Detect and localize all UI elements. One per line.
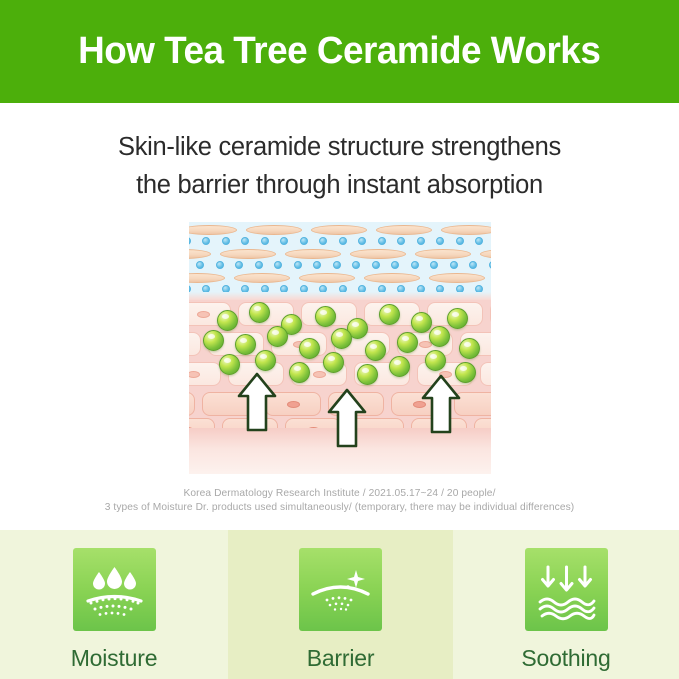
- hydration-dot: [469, 261, 477, 269]
- ceramide-sphere: [411, 312, 432, 333]
- barrier-arc-sparkle-icon: [299, 548, 382, 631]
- hydration-dot: [489, 261, 491, 269]
- ceramide-sphere: [357, 364, 378, 385]
- ceramide-sphere: [459, 338, 480, 359]
- ceramide-sphere: [315, 306, 336, 327]
- corneocyte-cell: [350, 249, 406, 259]
- ceramide-sphere: [323, 352, 344, 373]
- hydration-dot: [417, 237, 425, 245]
- hydration-dot: [216, 261, 224, 269]
- ceramide-sphere: [249, 302, 270, 323]
- subtitle-line-2: the barrier through instant absorption: [0, 166, 679, 204]
- page-header: How Tea Tree Ceramide Works: [0, 0, 679, 103]
- corneocyte-cell: [189, 273, 225, 283]
- hydration-dot: [202, 237, 210, 245]
- absorption-arrow: [327, 388, 367, 450]
- hydration-dot: [274, 261, 282, 269]
- caption-line-1: Korea Dermatology Research Institute / 2…: [0, 487, 679, 501]
- hydration-dot: [313, 261, 321, 269]
- hydration-dot: [222, 237, 230, 245]
- cell-nucleus: [189, 371, 200, 378]
- corneocyte-cell: [415, 249, 471, 259]
- corneocyte-cell: [376, 225, 432, 235]
- hydration-dot: [300, 237, 308, 245]
- benefit-panel-barrier[interactable]: Barrier: [228, 530, 453, 679]
- hydration-dot: [241, 237, 249, 245]
- hydration-dot: [235, 261, 243, 269]
- ceramide-sphere: [447, 308, 468, 329]
- corneocyte-cell: [299, 273, 355, 283]
- subtitle-line-1: Skin-like ceramide structure strengthens: [0, 128, 679, 166]
- ceramide-sphere: [267, 326, 288, 347]
- page-title: How Tea Tree Ceramide Works: [78, 30, 600, 73]
- hydration-dot: [456, 237, 464, 245]
- ceramide-sphere: [217, 310, 238, 331]
- epidermal-cell: [189, 332, 201, 356]
- hydration-dot: [319, 237, 327, 245]
- hydration-dot: [333, 261, 341, 269]
- hydration-dot: [339, 237, 347, 245]
- absorption-arrow: [237, 372, 277, 434]
- ceramide-sphere: [255, 350, 276, 371]
- hydration-dot: [255, 261, 263, 269]
- benefit-panel-moisture[interactable]: Moisture: [0, 530, 228, 679]
- hydration-dot: [450, 261, 458, 269]
- corneocyte-cell: [311, 225, 367, 235]
- corneocyte-cell: [441, 225, 491, 235]
- corneocyte-cell: [285, 249, 341, 259]
- corneocyte-cell: [364, 273, 420, 283]
- hydration-dot: [196, 261, 204, 269]
- hydration-dot: [189, 237, 191, 245]
- ceramide-sphere: [299, 338, 320, 359]
- cell-nucleus: [419, 341, 432, 348]
- benefit-label-soothing: Soothing: [521, 645, 610, 672]
- hydration-dot: [372, 261, 380, 269]
- hydration-dot: [411, 261, 419, 269]
- caption-line-2: 3 types of Moisture Dr. products used si…: [0, 501, 679, 515]
- ceramide-sphere: [331, 328, 352, 349]
- hydration-dot: [475, 237, 483, 245]
- hydration-dot: [436, 237, 444, 245]
- ceramide-sphere: [389, 356, 410, 377]
- hydration-dot-row: [189, 260, 491, 269]
- absorption-arrow: [421, 374, 461, 436]
- water-droplets-icon: [73, 548, 156, 631]
- epidermal-cell: [189, 362, 221, 386]
- epidermal-cell: [480, 362, 491, 386]
- ceramide-sphere: [235, 334, 256, 355]
- subtitle-block: Skin-like ceramide structure strengthens…: [0, 103, 679, 204]
- hydration-dot: [397, 237, 405, 245]
- corneocyte-cell: [429, 273, 485, 283]
- epidermal-cell: [490, 302, 491, 326]
- corneocyte-cell: [234, 273, 290, 283]
- benefit-panel-soothing[interactable]: Soothing: [453, 530, 679, 679]
- hydration-dot: [358, 237, 366, 245]
- ceramide-sphere: [429, 326, 450, 347]
- ceramide-sphere: [365, 340, 386, 361]
- corneocyte-cell: [246, 225, 302, 235]
- caption-block: Korea Dermatology Research Institute / 2…: [0, 487, 679, 514]
- hydration-dot: [294, 261, 302, 269]
- hydration-dot: [261, 237, 269, 245]
- ceramide-sphere: [379, 304, 400, 325]
- cell-nucleus: [313, 371, 326, 378]
- diagram-container: [0, 222, 679, 474]
- ceramide-sphere: [425, 350, 446, 371]
- cell-nucleus: [197, 311, 210, 318]
- corneocyte-row: [189, 272, 489, 283]
- corneocyte-row: [189, 248, 475, 259]
- hydration-dot: [391, 261, 399, 269]
- hydration-dot: [430, 261, 438, 269]
- down-arrows-waves-icon: [525, 548, 608, 631]
- hydration-dot: [352, 261, 360, 269]
- epidermal-cell: [189, 392, 195, 416]
- ceramide-sphere: [203, 330, 224, 351]
- benefit-label-moisture: Moisture: [71, 645, 158, 672]
- ceramide-sphere: [397, 332, 418, 353]
- ceramide-sphere: [289, 362, 310, 383]
- hydration-dot: [378, 237, 386, 245]
- cell-nucleus: [287, 401, 300, 408]
- corneocyte-cell: [220, 249, 276, 259]
- hydration-dot: [280, 237, 288, 245]
- benefits-section: Moisture Barrier: [0, 530, 679, 679]
- benefit-label-barrier: Barrier: [307, 645, 375, 672]
- stratum-corneum-layer: [189, 222, 491, 294]
- skin-cross-section-diagram: [189, 222, 491, 474]
- corneocyte-cell: [189, 249, 211, 259]
- hydration-dot-row: [189, 236, 491, 245]
- corneocyte-cell: [480, 249, 491, 259]
- corneocyte-row: [189, 224, 491, 235]
- corneocyte-cell: [189, 225, 237, 235]
